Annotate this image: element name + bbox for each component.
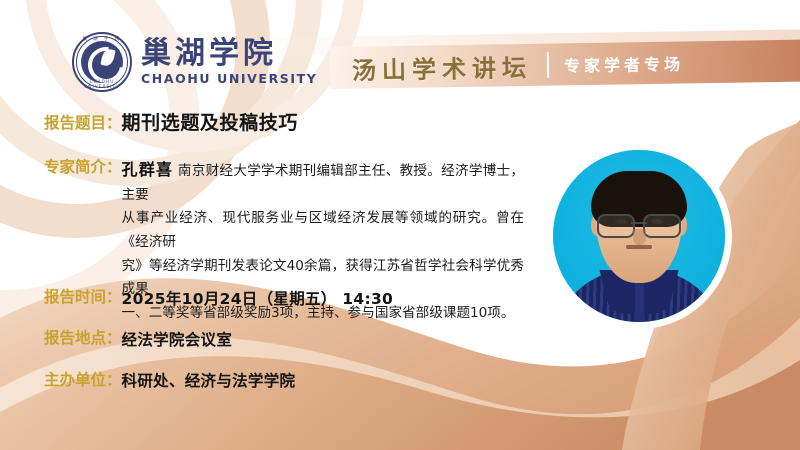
- event-place-value: 经法学院会议室: [122, 328, 233, 350]
- event-host-label: 主办单位：: [44, 369, 122, 392]
- university-name-en: CHAOHU UNIVERSITY: [141, 71, 317, 86]
- speaker-name: 孔群喜: [122, 160, 174, 179]
- event-place-row: 报告地点： 经法学院会议室: [44, 327, 504, 350]
- event-time-value: 2025年10月24日（星期五） 14:30: [122, 287, 394, 309]
- seminar-poster: 巢 湖 学 院 CHAOHU UNIVERSITY 巢湖学院 CHAOHU UN…: [0, 0, 800, 450]
- speaker-portrait: [553, 150, 725, 322]
- glasses-lens-left: [597, 214, 635, 238]
- portrait-nose: [633, 229, 646, 245]
- event-time-label: 报告时间：: [44, 286, 122, 309]
- portrait-placket: [635, 277, 644, 322]
- event-time-row: 报告时间： 2025年10月24日（星期五） 14:30: [44, 286, 504, 309]
- university-name-cn: 巢湖学院: [141, 38, 317, 70]
- event-place-label: 报告地点：: [44, 327, 122, 350]
- seal-bottom-text: CHAOHU UNIVERSITY: [72, 79, 132, 89]
- portrait-mouth: [626, 245, 652, 249]
- seal-top-text: 巢 湖 学 院: [72, 36, 132, 42]
- event-host-row: 主办单位： 科研处、经济与法学学院: [44, 369, 504, 392]
- speaker-bio-line-1: 南京财经大学学术期刊编辑部主任、教授。经济学博士，主要: [122, 163, 525, 203]
- university-logo: 巢 湖 学 院 CHAOHU UNIVERSITY 巢湖学院 CHAOHU UN…: [72, 32, 317, 92]
- talk-title-label: 报告题目：: [44, 112, 122, 135]
- talk-title-row: 报告题目： 期刊选题及投稿技巧: [44, 112, 524, 136]
- talk-title-value: 期刊选题及投稿技巧: [122, 112, 298, 136]
- banner-text-group: 汤山学术讲坛 专家学者专场: [352, 43, 685, 88]
- banner-subtitle: 专家学者专场: [564, 51, 684, 77]
- university-seal-icon: 巢 湖 学 院 CHAOHU UNIVERSITY: [72, 32, 132, 92]
- banner-divider: [547, 52, 549, 78]
- banner-title: 汤山学术讲坛: [352, 48, 533, 86]
- speaker-bio-label: 专家简介：: [44, 156, 122, 179]
- glasses-lens-right: [643, 214, 681, 238]
- event-host-value: 科研处、经济与法学学院: [122, 369, 296, 391]
- glasses-bridge: [631, 222, 647, 224]
- event-details: 报告时间： 2025年10月24日（星期五） 14:30 报告地点： 经法学院会…: [44, 286, 504, 410]
- university-name-block: 巢湖学院 CHAOHU UNIVERSITY: [141, 38, 317, 86]
- speaker-bio-line-2: 从事产业经济、现代服务业与区域经济发展等领域的研究。曾在《经济研: [122, 207, 524, 254]
